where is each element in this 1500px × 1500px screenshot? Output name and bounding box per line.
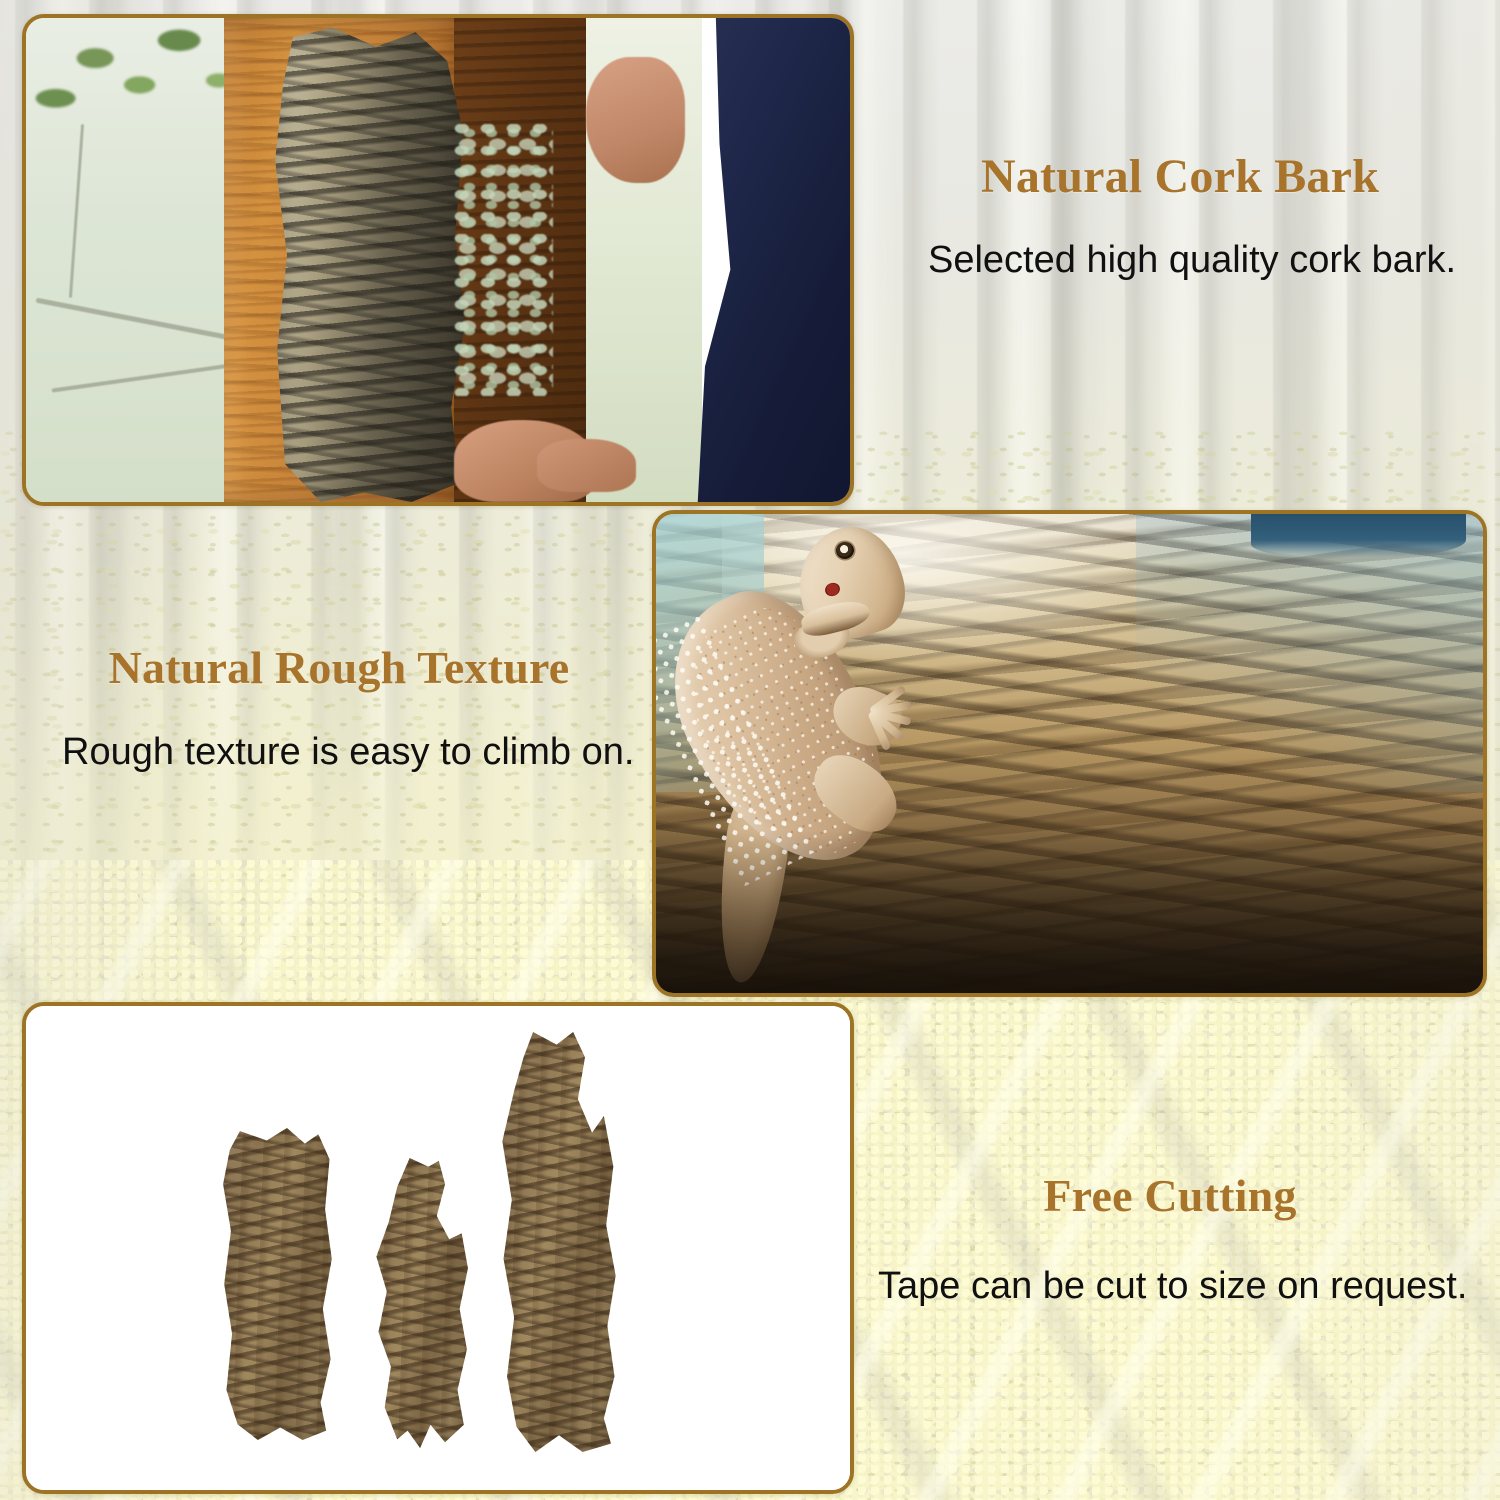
photo-panel-cork-harvest: [22, 14, 854, 506]
feature-body-free-cutting: Tape can be cut to size on request.: [870, 1260, 1470, 1312]
photo-panel-lizard: [652, 510, 1487, 997]
feature-free-cutting: Free Cutting Tape can be cut to size on …: [870, 1172, 1470, 1313]
lizard-eye: [836, 542, 854, 559]
feature-heading-natural-rough-texture: Natural Rough Texture: [34, 644, 644, 692]
feature-natural-cork-bark: Natural Cork Bark Selected high quality …: [900, 152, 1460, 287]
lichen-patch: [454, 124, 553, 395]
harvester-arm: [586, 57, 685, 183]
feature-heading-natural-cork-bark: Natural Cork Bark: [900, 152, 1460, 202]
product-infographic: Natural Cork Bark Selected high quality …: [0, 0, 1500, 1500]
feature-natural-rough-texture: Natural Rough Texture Rough texture is e…: [34, 644, 644, 779]
feature-body-natural-rough-texture: Rough texture is easy to climb on.: [34, 726, 644, 778]
feature-heading-free-cutting: Free Cutting: [870, 1172, 1470, 1220]
harvester-hand-lower-2: [537, 439, 636, 492]
cork-harvest-photo: [26, 18, 850, 502]
bark-shadow: [656, 830, 1483, 993]
lizard-on-bark-photo: [656, 514, 1483, 993]
bark-piece-left: [222, 1128, 334, 1440]
feature-body-natural-cork-bark: Selected high quality cork bark.: [900, 234, 1460, 286]
cork-bark-slab: [273, 28, 471, 502]
terrarium-background: [1251, 514, 1466, 557]
